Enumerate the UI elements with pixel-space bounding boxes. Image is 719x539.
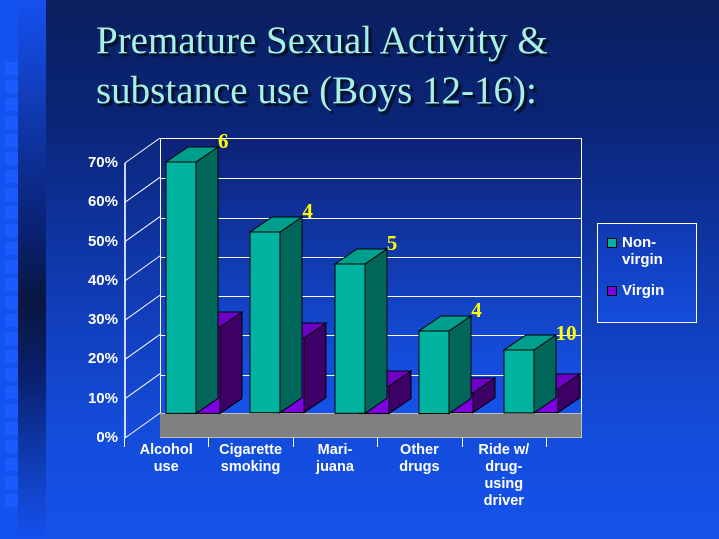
y-axis-tick-label: 60% (62, 193, 118, 210)
decorative-square (5, 62, 18, 75)
decorative-square (5, 170, 18, 183)
decorative-square (5, 440, 18, 453)
decorative-square (5, 476, 18, 489)
decorative-square (5, 404, 18, 417)
decorative-square (5, 242, 18, 255)
legend-item[interactable]: Virgin (607, 282, 664, 299)
decorative-square (5, 422, 18, 435)
bar-group (329, 138, 413, 413)
bar-value-annotation: 10 (556, 323, 577, 344)
strip-shade (18, 0, 46, 539)
decorative-square (5, 278, 18, 291)
bar-group (160, 138, 244, 413)
bar-non-virgin[interactable] (250, 232, 280, 413)
legend-label: Non- virgin (622, 234, 663, 268)
decorative-square (5, 494, 18, 507)
chart-legend: Non- virginVirgin (597, 223, 697, 323)
legend-swatch-icon (607, 238, 617, 248)
y-axis-tick-label: 20% (62, 350, 118, 367)
legend-swatch-icon (607, 286, 617, 296)
decorative-square (5, 224, 18, 237)
y-axis: 0%10%20%30%40%50%60%70% (62, 138, 118, 438)
y-axis-tick-label: 40% (62, 272, 118, 289)
legend-item[interactable]: Non- virgin (607, 234, 663, 268)
x-axis-category-label: Mari- juana (293, 442, 377, 476)
decorative-square (5, 98, 18, 111)
bar-non-virgin[interactable] (504, 350, 534, 413)
bar-group (413, 138, 497, 413)
decorative-square (5, 206, 18, 219)
y-axis-tick-label: 30% (62, 311, 118, 328)
bar-value-annotation: 4 (302, 201, 313, 222)
bar-chart: 0%10%20%30%40%50%60%70% 645410 Alcohol u… (62, 138, 582, 438)
decorative-square (5, 350, 18, 363)
bar-value-annotation: 5 (387, 233, 398, 254)
decorative-square (5, 260, 18, 273)
decorative-square (5, 296, 18, 309)
decorative-square (5, 314, 18, 327)
bar-group (498, 138, 582, 413)
y-axis-tick-label: 70% (62, 154, 118, 171)
decorative-square (5, 458, 18, 471)
decorative-square (5, 188, 18, 201)
x-axis-labels: Alcohol useCigarette smokingMari- juanaO… (124, 438, 582, 539)
decorative-square (5, 368, 18, 381)
x-axis-tick (546, 438, 547, 447)
bar-3d-shape (419, 316, 471, 414)
bar-3d-shape (335, 249, 387, 413)
plot-area: 645410 (124, 138, 582, 438)
bar-non-virgin[interactable] (419, 331, 449, 414)
x-axis-category-label: Ride w/ drug- using driver (462, 442, 546, 510)
x-axis-category-label: Cigarette smoking (208, 442, 292, 476)
page-title: Premature Sexual Activity & substance us… (96, 16, 696, 116)
slide-canvas: Premature Sexual Activity & substance us… (0, 0, 719, 539)
bar-non-virgin[interactable] (335, 264, 365, 413)
x-axis-category-label: Alcohol use (124, 442, 208, 476)
bar-3d-shape (250, 217, 302, 413)
bar-value-annotation: 4 (471, 300, 482, 321)
y-axis-tick-label: 0% (62, 429, 118, 446)
bar-value-annotation: 6 (218, 131, 229, 152)
decorative-square (5, 134, 18, 147)
bar-non-virgin[interactable] (166, 162, 196, 413)
plot-left-wall (124, 138, 161, 438)
bar-3d-shape (504, 335, 556, 413)
decorative-square (5, 332, 18, 345)
floor-polygon (160, 413, 582, 438)
legend-label: Virgin (622, 282, 664, 299)
left-decoration-strip (0, 0, 46, 539)
decorative-square (5, 116, 18, 129)
x-axis-category-label: Other drugs (377, 442, 461, 476)
bar-3d-shape (166, 147, 218, 413)
plot-floor (160, 413, 582, 438)
bar-group (244, 138, 328, 413)
decorative-square (5, 152, 18, 165)
decorative-square (5, 80, 18, 93)
decorative-square (5, 386, 18, 399)
y-axis-tick-label: 10% (62, 390, 118, 407)
y-axis-tick-label: 50% (62, 233, 118, 250)
